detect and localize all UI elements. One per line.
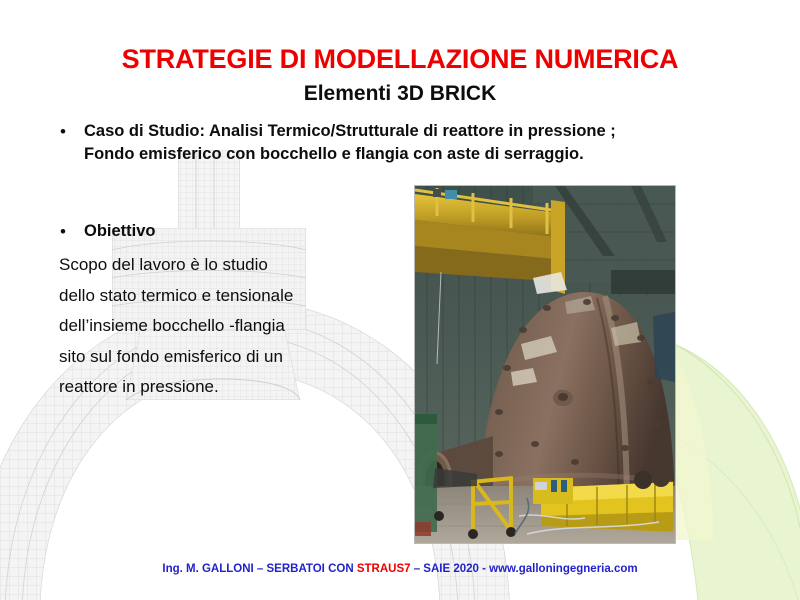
footer-prefix: Ing. M. GALLONI – SERBATOI CON: [162, 563, 356, 575]
slide-footer: Ing. M. GALLONI – SERBATOI CON STRAUS7 –…: [0, 563, 800, 575]
bullet-case-study-line2: Fondo emisferico con bocchello e flangia…: [84, 145, 584, 163]
slide-title: STRATEGIE DI MODELLAZIONE NUMERICA: [0, 44, 800, 75]
reactor-vessel-photo: [414, 185, 676, 544]
bullet-marker-icon: •: [60, 120, 84, 143]
objective-line-4: sito sul fondo emisferico di un: [59, 342, 409, 373]
presentation-slide: STRATEGIE DI MODELLAZIONE NUMERICA Eleme…: [0, 0, 800, 600]
photo-caster-wheel: [506, 527, 516, 537]
objective-line-5: reattore in pressione.: [59, 372, 409, 403]
footer-suffix: – SAIE 2020 - www.galloningegneria.com: [411, 563, 638, 575]
objective-line-3: dell’insieme bocchello -flangia: [59, 311, 409, 342]
bullet-case-study-text: Caso di Studio: Analisi Termico/Struttur…: [84, 120, 616, 166]
objective-line-1: Scopo del lavoro è lo studio: [59, 250, 409, 281]
bullet-case-study-line1: Caso di Studio: Analisi Termico/Struttur…: [84, 122, 616, 140]
objective-paragraph: Scopo del lavoro è lo studio dello stato…: [59, 250, 409, 403]
bullet-objective: • Obiettivo: [60, 220, 360, 243]
slide-subtitle: Elementi 3D BRICK: [0, 82, 800, 106]
objective-line-2: dello stato termico e tensionale: [59, 281, 409, 312]
bullet-marker-icon: •: [60, 220, 84, 243]
photo-caster-wheel: [468, 529, 478, 539]
bullet-case-study: • Caso di Studio: Analisi Termico/Strutt…: [60, 120, 760, 166]
footer-highlight: STRAUS7: [357, 563, 411, 575]
bullet-objective-label: Obiettivo: [84, 220, 156, 243]
